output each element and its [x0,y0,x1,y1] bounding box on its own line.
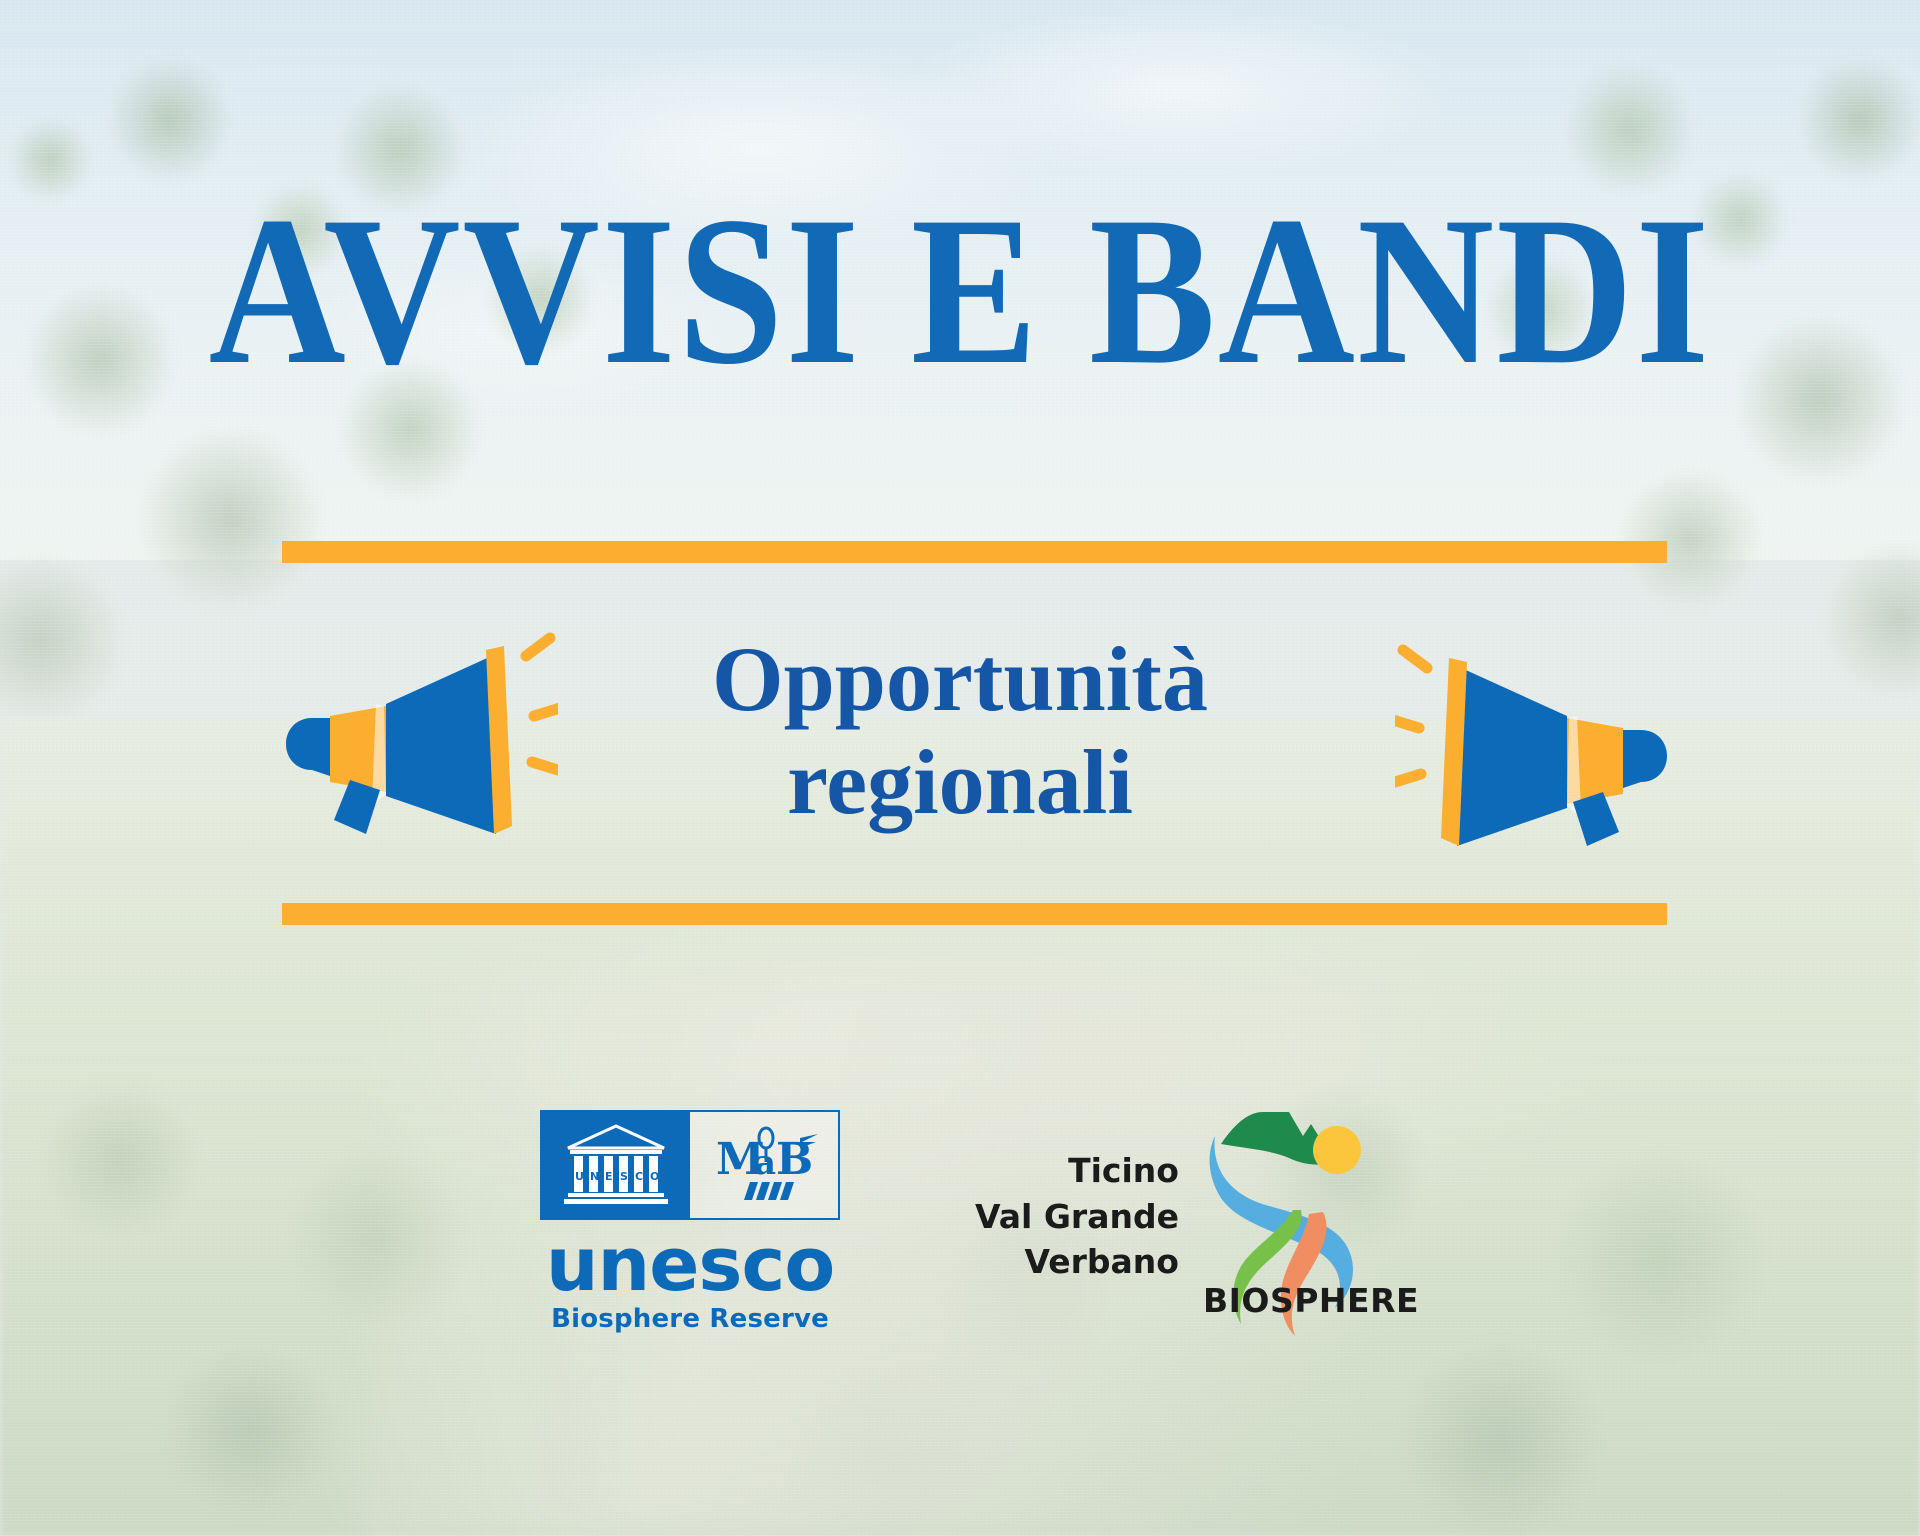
unesco-temple-icon: UNE SCO [542,1112,690,1218]
ticino-mark: BIOSPHERE [1185,1110,1395,1340]
ticino-name-line-1: Ticino [975,1148,1179,1194]
svg-text:U: U [575,1170,584,1183]
ticino-biosphere-logo: Ticino Val Grande Verbano [975,1110,1395,1340]
subtitle-line-1: Opportunità [540,628,1380,731]
logo-row: UNE SCO M a B [0,1110,1920,1390]
unesco-emblem: UNE SCO M a B [540,1110,840,1220]
ticino-biosphere-label: BIOSPHERE [1203,1281,1419,1320]
poster-content: AVVISI E BANDI [0,0,1920,1536]
svg-text:E: E [605,1170,613,1183]
poster-canvas: AVVISI E BANDI [0,0,1920,1536]
megaphone-icon [268,620,558,850]
unesco-logo: UNE SCO M a B [525,1110,855,1334]
mab-icon: M a B [690,1112,838,1218]
svg-text:C: C [635,1170,643,1183]
unesco-wordmark: unesco [546,1230,834,1300]
ticino-name: Ticino Val Grande Verbano [975,1110,1179,1285]
page-title: AVVISI E BANDI [0,185,1920,398]
svg-text:B: B [776,1134,813,1185]
svg-text:O: O [650,1170,659,1183]
svg-text:S: S [620,1170,628,1183]
divider-rule-bottom [282,903,1667,925]
svg-text:N: N [590,1170,599,1183]
divider-rule-top [282,541,1667,563]
ticino-name-line-3: Verbano [975,1239,1179,1285]
subtitle-line-2: regionali [540,731,1380,834]
unesco-tagline: Biosphere Reserve [551,1304,829,1334]
ticino-name-line-2: Val Grande [975,1194,1179,1240]
page-subtitle: Opportunità regionali [540,628,1380,834]
megaphone-icon [1395,632,1685,862]
